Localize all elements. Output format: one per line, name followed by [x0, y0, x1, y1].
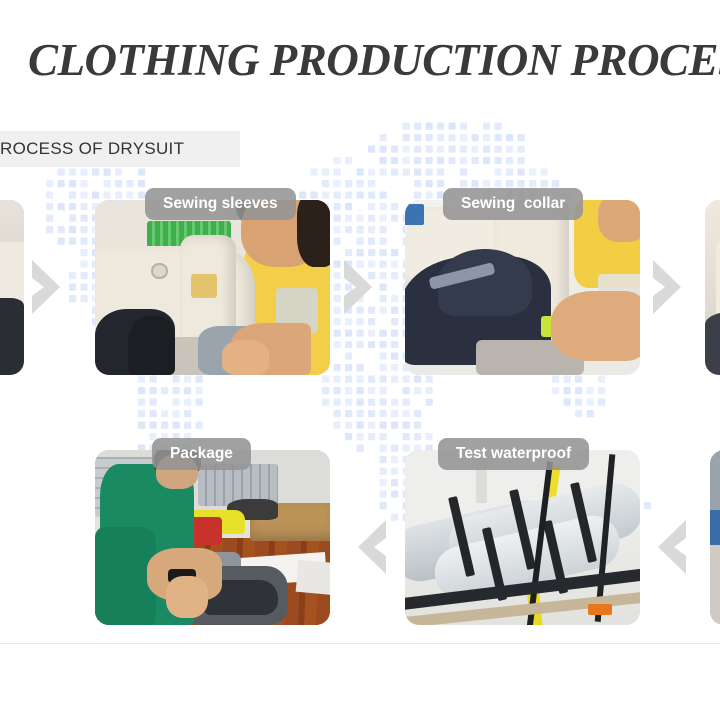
- footer-divider: [0, 643, 720, 644]
- step-edge-right-card[interactable]: [705, 200, 720, 375]
- step-edge-bottom-right-photo: [710, 450, 720, 625]
- step-edge-bottom-right-card[interactable]: [710, 450, 720, 625]
- caption-chip-sewing-collar: Sewing collar: [443, 188, 583, 220]
- chevron-right-icon: [342, 258, 382, 316]
- caption-text: Sewing sleeves: [163, 195, 278, 213]
- caption-text: Package: [170, 445, 233, 463]
- step-edge-left-photo: [0, 200, 24, 375]
- caption-chip-test-waterproof: Test waterproof: [438, 438, 589, 470]
- step-sewing-collar-card[interactable]: [405, 200, 640, 375]
- step-test-waterproof-photo: [405, 450, 640, 625]
- subtitle-band: ROCESS OF DRYSUIT: [0, 131, 240, 167]
- subtitle-text: ROCESS OF DRYSUIT: [0, 139, 184, 159]
- step-edge-left-card[interactable]: [0, 200, 24, 375]
- chevron-left-icon: [648, 518, 688, 576]
- step-sewing-collar-photo: [405, 200, 640, 375]
- chevron-left-icon: [348, 518, 388, 576]
- chevron-right-icon: [651, 258, 691, 316]
- step-test-waterproof-card[interactable]: [405, 450, 640, 625]
- step-sewing-sleeves-photo: [95, 200, 330, 375]
- step-sewing-sleeves-card[interactable]: [95, 200, 330, 375]
- page-title: CLOTHING PRODUCTION PROCES: [28, 38, 720, 83]
- step-package-card[interactable]: [95, 450, 330, 625]
- caption-text: Test waterproof: [456, 445, 571, 463]
- chevron-right-icon: [30, 258, 70, 316]
- caption-text: Sewing collar: [461, 195, 565, 213]
- step-package-photo: [95, 450, 330, 625]
- caption-chip-sewing-sleeves: Sewing sleeves: [145, 188, 296, 220]
- caption-chip-package: Package: [152, 438, 251, 470]
- slide-canvas: CLOTHING PRODUCTION PROCES ROCESS OF DRY…: [0, 0, 720, 720]
- step-edge-right-photo: [705, 200, 720, 375]
